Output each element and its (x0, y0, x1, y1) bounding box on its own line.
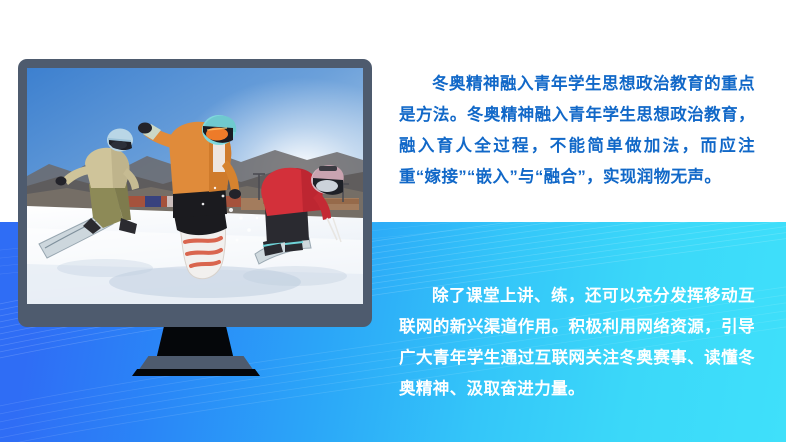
monitor-screen (27, 68, 363, 304)
monitor-stand-neck (156, 327, 234, 360)
paragraph-top: 冬奥精神融入青年学生思想政治教育的重点是方法。冬奥精神融入青年学生思想政治教育，… (399, 69, 755, 193)
monitor-bezel (18, 59, 372, 327)
slide-canvas: 冬奥精神融入青年学生思想政治教育的重点是方法。冬奥精神融入青年学生思想政治教育，… (0, 0, 786, 442)
paragraph-bottom: 除了课堂上讲、练，还可以充分发挥移动互联网的新兴渠道作用。积极利用网络资源，引导… (399, 281, 755, 405)
monitor-stand-base (138, 356, 254, 371)
snowboarding-photo (27, 68, 363, 304)
desktop-monitor (18, 59, 372, 327)
monitor-stand-foot (132, 369, 260, 376)
